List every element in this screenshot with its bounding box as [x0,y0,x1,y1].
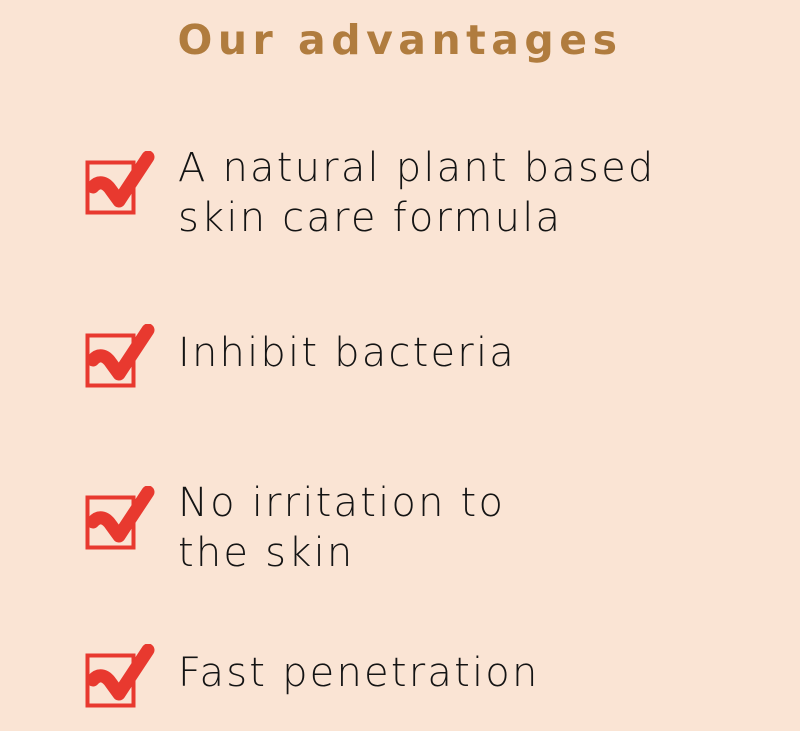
list-item: A natural plant based skin care formula [80,141,655,243]
list-item-label: Fast penetration [178,634,540,698]
list-item-label: Inhibit bacteria [178,314,516,378]
checked-checkbox-icon [80,486,166,558]
advantages-poster: Our advantages A natural plant based ski… [0,0,800,731]
checked-checkbox-icon [80,644,166,716]
list-item-label: No irritation to the skin [178,476,505,578]
checked-checkbox-icon [80,324,166,396]
list-item: Inhibit bacteria [80,314,516,396]
list-item-label: A natural plant based skin care formula [178,141,655,243]
list-item: Fast penetration [80,634,540,716]
advantages-list: A natural plant based skin care formula … [0,0,800,731]
checked-checkbox-icon [80,151,166,223]
list-item: No irritation to the skin [80,476,505,578]
